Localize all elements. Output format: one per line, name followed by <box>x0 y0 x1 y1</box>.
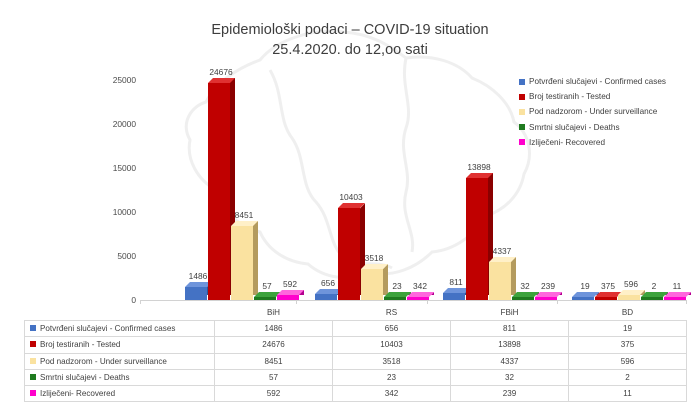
bar-bd-series-1[interactable] <box>595 297 617 300</box>
table-row: Pod nadzorom - Under surveillance8451351… <box>25 353 687 369</box>
table-row-label-text: Izliječeni- Recovered <box>40 389 115 398</box>
table-row: Smrtni slučajevi - Deaths5723322 <box>25 369 687 385</box>
bar-data-label: 811 <box>449 277 462 287</box>
bar-bd-series-4[interactable] <box>664 297 686 300</box>
bar-front-face <box>185 287 207 300</box>
bar-data-label: 19 <box>580 281 589 291</box>
table-cell: 4337 <box>451 353 569 369</box>
bar-front-face <box>618 295 640 300</box>
bar-front-face <box>231 226 253 300</box>
table-row-label: Smrtni slučajevi - Deaths <box>25 369 215 385</box>
y-axis-tick-label: 25000 <box>113 75 136 85</box>
x-axis-tick <box>296 300 297 304</box>
bar-top-face <box>338 203 365 208</box>
table-cell: 57 <box>215 369 333 385</box>
bar-front-face <box>489 262 511 300</box>
y-axis: 0500010000150002000025000 <box>100 62 136 300</box>
bar-bd-series-3[interactable] <box>641 297 663 300</box>
table-row-label: Pod nadzorom - Under surveillance <box>25 353 215 369</box>
table-cell: 11 <box>569 385 687 401</box>
table-cell: 656 <box>333 321 451 337</box>
bar-data-label: 596 <box>624 279 638 289</box>
table-row-label-text: Broj testiranih - Tested <box>40 340 120 349</box>
table-cell: 596 <box>569 353 687 369</box>
bar-fbih-series-3[interactable] <box>512 297 534 300</box>
bar-front-face <box>384 297 406 300</box>
bar-top-face <box>231 221 258 226</box>
bar-top-face <box>664 292 691 297</box>
bar-side-face <box>253 221 258 295</box>
bar-fbih-series-0[interactable] <box>443 293 465 300</box>
bar-front-face <box>208 83 230 301</box>
bar-front-face <box>254 297 276 300</box>
y-axis-tick-label: 5000 <box>117 251 136 261</box>
bar-front-face <box>338 208 360 300</box>
table-cell: 32 <box>451 369 569 385</box>
x-axis-tick <box>427 300 428 304</box>
table-row-label-text: Potvrđeni slučajevi - Confirmed cases <box>40 324 175 333</box>
bar-top-face <box>489 257 516 262</box>
bar-side-face <box>511 257 516 295</box>
table-series-swatch-icon <box>30 341 36 347</box>
bar-fbih-series-4[interactable] <box>535 297 557 300</box>
bar-data-label: 375 <box>601 281 615 291</box>
bar-front-face <box>572 297 594 300</box>
bar-rs-series-3[interactable] <box>384 297 406 300</box>
x-axis-line <box>140 300 686 301</box>
bar-front-face <box>407 297 429 300</box>
x-axis-tick <box>686 300 687 304</box>
bar-data-label: 1486 <box>189 271 208 281</box>
bar-front-face <box>641 297 663 300</box>
table-cell: 375 <box>569 337 687 353</box>
bar-top-face <box>277 290 304 295</box>
bar-data-label: 3518 <box>365 253 384 263</box>
chart-page: Epidemiološki podaci – COVID-19 situatio… <box>0 0 700 400</box>
table-row-label-text: Pod nadzorom - Under surveillance <box>40 357 167 366</box>
table-cell: 3518 <box>333 353 451 369</box>
x-axis-tick <box>557 300 558 304</box>
bar-front-face <box>466 178 488 301</box>
bar-front-face <box>595 297 617 300</box>
bar-front-face <box>315 294 337 300</box>
bar-data-label: 10403 <box>339 192 362 202</box>
table-header-row: BiHRSFBiHBD <box>25 305 687 321</box>
bar-top-face <box>535 292 562 297</box>
bar-fbih-series-1[interactable] <box>466 178 488 301</box>
bar-data-label: 8451 <box>235 210 254 220</box>
table-row-label: Izliječeni- Recovered <box>25 385 215 401</box>
bar-top-face <box>361 264 388 269</box>
bar-top-face <box>466 173 493 178</box>
table-cell: 2 <box>569 369 687 385</box>
bar-rs-series-0[interactable] <box>315 294 337 300</box>
bar-bd-series-0[interactable] <box>572 297 594 300</box>
table-cell: 19 <box>569 321 687 337</box>
table-row: Izliječeni- Recovered59234223911 <box>25 385 687 401</box>
y-axis-tick-label: 0 <box>131 295 136 305</box>
table-cell: 23 <box>333 369 451 385</box>
bar-rs-series-2[interactable] <box>361 269 383 300</box>
table-cell: 10403 <box>333 337 451 353</box>
bar-data-label: 656 <box>321 278 335 288</box>
table-cell: 811 <box>451 321 569 337</box>
table-cell: 342 <box>333 385 451 401</box>
chart-title-line1: Epidemiološki podaci – COVID-19 situatio… <box>0 20 700 40</box>
table-row: Potvrđeni slučajevi - Confirmed cases148… <box>25 321 687 337</box>
bar-data-label: 11 <box>673 281 682 291</box>
bar-data-label: 239 <box>541 281 555 291</box>
bar-rs-series-4[interactable] <box>407 297 429 300</box>
table-column-header: RS <box>333 305 451 321</box>
table-row: Broj testiranih - Tested2467610403138983… <box>25 337 687 353</box>
data-table: BiHRSFBiHBDPotvrđeni slučajevi - Confirm… <box>24 305 687 402</box>
bar-fbih-series-2[interactable] <box>489 262 511 300</box>
bar-data-label: 24676 <box>209 67 232 77</box>
bar-data-label: 2 <box>652 281 657 291</box>
table-row-label-text: Smrtni slučajevi - Deaths <box>40 373 130 382</box>
bar-top-face <box>407 292 434 297</box>
bar-data-label: 342 <box>413 281 427 291</box>
table-series-swatch-icon <box>30 390 36 396</box>
y-axis-tick-label: 20000 <box>113 119 136 129</box>
chart-title-line2: 25.4.2020. do 12,oo sati <box>0 40 700 60</box>
bar-front-face <box>443 293 465 300</box>
table-corner-cell <box>25 305 215 321</box>
table-series-swatch-icon <box>30 358 36 364</box>
table-cell: 1486 <box>215 321 333 337</box>
bar-bih-series-3[interactable] <box>254 297 276 300</box>
table-row-label: Potvrđeni slučajevi - Confirmed cases <box>25 321 215 337</box>
table-series-swatch-icon <box>30 374 36 380</box>
bar-bih-series-2[interactable] <box>231 226 253 300</box>
table-cell: 8451 <box>215 353 333 369</box>
x-axis-tick <box>140 300 141 304</box>
table-cell: 239 <box>451 385 569 401</box>
bar-front-face <box>535 297 557 300</box>
y-axis-tick-label: 10000 <box>113 207 136 217</box>
bar-top-face <box>208 78 235 83</box>
table-cell: 13898 <box>451 337 569 353</box>
bar-front-face <box>512 297 534 300</box>
bar-bd-series-2[interactable] <box>618 295 640 300</box>
bar-bih-series-0[interactable] <box>185 287 207 300</box>
table-row-label: Broj testiranih - Tested <box>25 337 215 353</box>
bar-bih-series-1[interactable] <box>208 83 230 301</box>
bar-data-label: 13898 <box>467 162 490 172</box>
bar-data-label: 23 <box>392 281 401 291</box>
bar-data-label: 32 <box>520 281 529 291</box>
table-column-header: BiH <box>215 305 333 321</box>
bar-front-face <box>361 269 383 300</box>
plot-area: 1486246768451575926561040335182334281113… <box>140 62 685 300</box>
table-cell: 24676 <box>215 337 333 353</box>
y-axis-tick-label: 15000 <box>113 163 136 173</box>
bar-data-label: 592 <box>283 279 297 289</box>
table-series-swatch-icon <box>30 325 36 331</box>
bar-data-label: 4337 <box>493 246 512 256</box>
table-cell: 592 <box>215 385 333 401</box>
bar-data-label: 57 <box>262 281 271 291</box>
bar-rs-series-1[interactable] <box>338 208 360 300</box>
chart-title: Epidemiološki podaci – COVID-19 situatio… <box>0 20 700 60</box>
bar-front-face <box>664 297 686 300</box>
